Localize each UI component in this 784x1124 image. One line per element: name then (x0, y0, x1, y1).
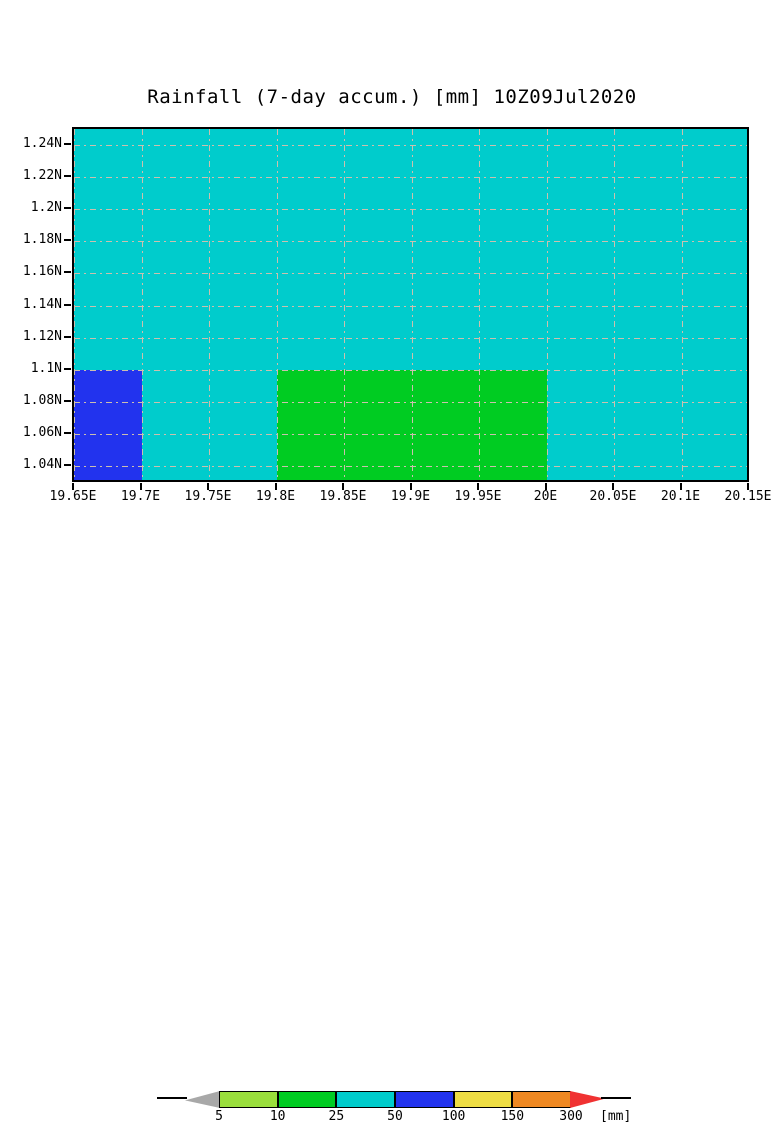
colorbar-right-whisker (601, 1097, 631, 1099)
gridline-vertical (614, 129, 615, 480)
y-tick-mark (64, 271, 71, 273)
gridline-horizontal (74, 209, 747, 210)
y-tick-label: 1.04N (23, 457, 62, 472)
colorbar-under-arrow (185, 1091, 220, 1108)
y-tick-label: 1.18N (23, 232, 62, 247)
chart-canvas: Rainfall (7-day accum.) [mm] 10Z09Jul202… (0, 0, 784, 612)
y-tick-label: 1.16N (23, 264, 62, 279)
gridline-horizontal (74, 177, 747, 178)
y-tick-label: 1.08N (23, 393, 62, 408)
y-tick-mark (64, 368, 71, 370)
gridline-horizontal (74, 402, 747, 403)
gridline-vertical (344, 129, 345, 480)
y-tick-mark (64, 143, 71, 145)
y-tick-label: 1.14N (23, 297, 62, 312)
gridline-vertical (142, 129, 143, 480)
y-tick-label: 1.1N (31, 361, 62, 376)
gridline-vertical (209, 129, 210, 480)
y-tick-label: 1.24N (23, 136, 62, 151)
gridline-horizontal (74, 370, 747, 371)
y-tick-mark (64, 400, 71, 402)
colorbar-tick-label: 50 (370, 1109, 420, 1124)
gridline-horizontal (74, 434, 747, 435)
gridline-horizontal (74, 306, 747, 307)
colorbar-tick-label: 100 (429, 1109, 479, 1124)
colorbar-band (278, 1091, 337, 1108)
y-tick-mark (64, 464, 71, 466)
gridline-vertical (547, 129, 548, 480)
colorbar: 5102550100150300 [mm] (0, 543, 784, 603)
y-tick-mark (64, 175, 71, 177)
y-tick-mark (64, 207, 71, 209)
x-tick-label: 20.15E (708, 489, 784, 504)
colorbar-band (512, 1091, 571, 1108)
colorbar-band (454, 1091, 513, 1108)
gridline-vertical (412, 129, 413, 480)
y-tick-mark (64, 239, 71, 241)
gridline-vertical (277, 129, 278, 480)
chart-title: Rainfall (7-day accum.) [mm] 10Z09Jul202… (0, 86, 784, 108)
gridline-horizontal (74, 145, 747, 146)
y-tick-label: 1.22N (23, 168, 62, 183)
colorbar-band (336, 1091, 395, 1108)
gridline-vertical (479, 129, 480, 480)
y-tick-label: 1.12N (23, 329, 62, 344)
colorbar-tick-label: 5 (194, 1109, 244, 1124)
y-tick-mark (64, 336, 71, 338)
colorbar-tick-label: 150 (487, 1109, 537, 1124)
y-tick-label: 1.06N (23, 425, 62, 440)
gridline-vertical (74, 129, 75, 480)
gridline-vertical (682, 129, 683, 480)
y-tick-label: 1.2N (31, 200, 62, 215)
colorbar-band (395, 1091, 454, 1108)
gridline-horizontal (74, 466, 747, 467)
colorbar-units-label: [mm] (600, 1109, 631, 1124)
colorbar-tick-label: 25 (311, 1109, 361, 1124)
colorbar-left-whisker (157, 1097, 187, 1099)
colorbar-over-arrow (570, 1091, 605, 1108)
gridline-horizontal (74, 338, 747, 339)
y-tick-mark (64, 432, 71, 434)
gridline-horizontal (74, 241, 747, 242)
colorbar-band (219, 1091, 278, 1108)
plot-area (72, 127, 749, 482)
colorbar-tick-label: 300 (546, 1109, 596, 1124)
colorbar-tick-label: 10 (253, 1109, 303, 1124)
gridline-horizontal (74, 273, 747, 274)
y-tick-mark (64, 304, 71, 306)
